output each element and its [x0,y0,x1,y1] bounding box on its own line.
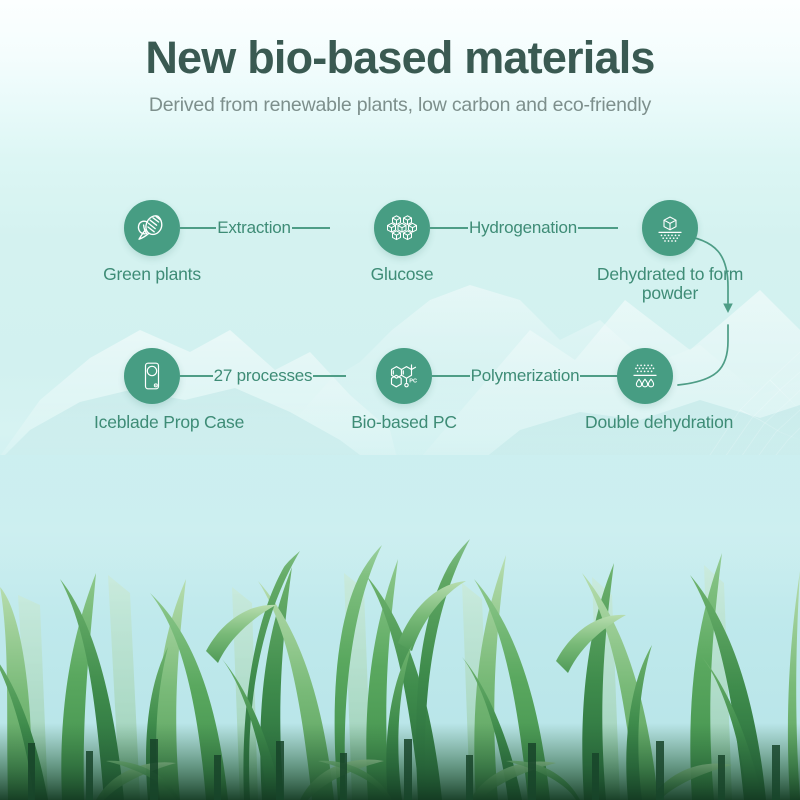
connector-line-left [180,375,213,377]
phone-case-icon [135,359,169,393]
sugar-cubes-lattice-icon-disc [374,200,430,256]
connector-label: Extraction [216,218,292,238]
flow-node-bio-based-pc[interactable]: PC Bio-based PC [344,348,464,432]
flow-node-label: Dehydrated to form powder [595,265,745,302]
powder-water-drops-icon [628,359,662,393]
flow-node-double-dehydration[interactable]: Double dehydration [585,348,705,432]
sugarcane-blades [0,455,800,800]
flow-connector-extraction: Extraction [178,217,330,239]
corn-cob-icon [135,211,169,245]
connector-label: 27 processes [213,366,314,386]
flow-node-iceblade-prop-case[interactable]: Iceblade Prop Case [94,348,210,432]
connector-line-left [428,227,468,229]
powder-water-drops-icon-disc [617,348,673,404]
connector-line-right [313,375,346,377]
connector-label: Polymerization [470,366,581,386]
bio-based-materials-infographic: New bio-based materials Derived from ren… [0,0,800,800]
connector-label: Hydrogenation [468,218,578,238]
flow-node-dehydrated-powder[interactable]: Dehydrated to form powder [585,200,755,302]
sugar-cubes-lattice-icon [385,211,419,245]
sugarcane-field-photo [0,455,800,800]
polycarbonate-molecule-icon-disc: PC [376,348,432,404]
flow-connector-27-processes: 27 processes [180,365,346,387]
connector-line-left [178,227,216,229]
process-flow-diagram: Green plants Extraction [0,0,800,470]
phone-case-icon-disc [124,348,180,404]
polycarbonate-molecule-icon: PC [386,358,422,394]
connector-line-right [292,227,330,229]
flow-node-label: Glucose [342,265,462,284]
flow-node-label: Double dehydration [585,413,705,432]
molecule-badge-label: PC [409,378,417,384]
flow-node-label: Bio-based PC [344,413,464,432]
connector-line-left [430,375,470,377]
flow-node-label: Iceblade Prop Case [94,413,210,432]
cube-over-powder-icon [653,211,687,245]
flow-node-glucose[interactable]: Glucose [342,200,462,284]
cube-over-powder-icon-disc [642,200,698,256]
corn-cob-icon-disc [124,200,180,256]
flow-node-label: Green plants [92,265,212,284]
flow-node-green-plants[interactable]: Green plants [92,200,212,284]
